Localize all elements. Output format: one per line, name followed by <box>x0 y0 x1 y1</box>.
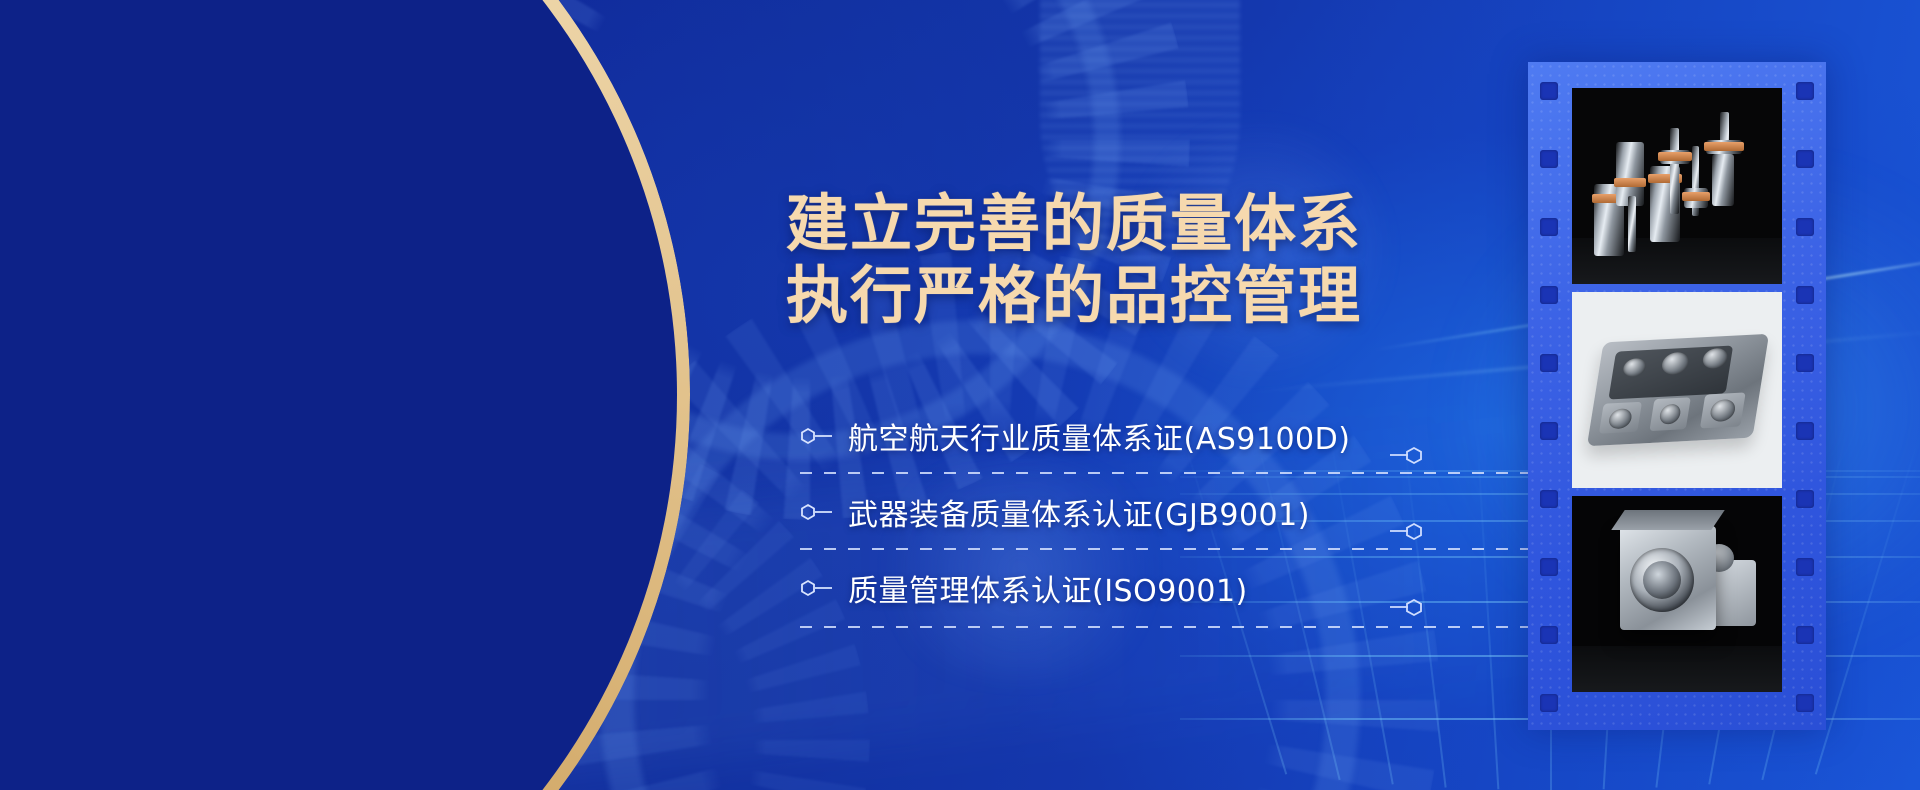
film-perforation <box>1540 422 1558 440</box>
headline-line-1: 建立完善的质量体系 <box>786 187 1362 260</box>
hexagon-end-icon <box>1388 520 1428 542</box>
film-perforation <box>1796 626 1814 644</box>
film-perforation <box>1796 694 1814 712</box>
film-perforation <box>1540 558 1558 576</box>
page-title: 建立完善的质量体系 执行严格的品控管理 <box>786 188 1466 332</box>
hexagon-end-icon <box>1388 444 1428 466</box>
headline-line-2: 执行严格的品控管理 <box>786 260 1466 332</box>
film-perforation <box>1540 218 1558 236</box>
certification-item[interactable]: 航空航天行业质量体系证(AS9100D) <box>800 398 1460 474</box>
film-perforation <box>1796 150 1814 168</box>
photo-collage <box>0 0 690 790</box>
product-filmstrip <box>1528 62 1826 730</box>
photo-bench-measurement <box>336 0 690 388</box>
product-frame-bearing-block[interactable] <box>1572 496 1782 692</box>
grid-line-vertical <box>1476 430 1499 789</box>
certification-label: 武器装备质量体系认证(GJB9001) <box>848 490 1310 534</box>
film-perforation <box>1540 82 1558 100</box>
photo-cnc-operation <box>336 388 690 790</box>
quality-system-banner: 建立完善的质量体系 执行严格的品控管理 航空航天行业质量体系证(AS9100D)… <box>0 0 1920 790</box>
photo-height-gauge-inspection <box>0 0 336 388</box>
film-perforation <box>1796 286 1814 304</box>
film-perforation <box>1796 354 1814 372</box>
hexagon-bullet-icon <box>800 578 834 598</box>
product-frame-turned-pins[interactable] <box>1572 88 1782 284</box>
film-perforation <box>1540 490 1558 508</box>
photo-cmm-measuring <box>0 388 336 790</box>
certification-label: 航空航天行业质量体系证(AS9100D) <box>848 414 1350 458</box>
grid-line-vertical <box>1815 430 1920 775</box>
certification-item[interactable]: 武器装备质量体系认证(GJB9001) <box>800 474 1460 550</box>
hexagon-bullet-icon <box>800 502 834 522</box>
film-perforation <box>1796 490 1814 508</box>
hexagon-bullet-icon <box>800 426 834 446</box>
film-perforation <box>1540 150 1558 168</box>
film-perforation <box>1796 422 1814 440</box>
hexagon-end-icon <box>1388 596 1428 618</box>
certification-label: 质量管理体系认证(ISO9001) <box>848 566 1248 610</box>
film-perforation <box>1796 558 1814 576</box>
certification-end-markers <box>1388 414 1428 734</box>
film-perforation <box>1540 694 1558 712</box>
certification-item[interactable]: 质量管理体系认证(ISO9001) <box>800 550 1460 626</box>
film-perforation <box>1796 82 1814 100</box>
certification-list: 航空航天行业质量体系证(AS9100D)武器装备质量体系认证(GJB9001)质… <box>800 398 1460 626</box>
film-perforation <box>1796 218 1814 236</box>
film-perforation <box>1540 626 1558 644</box>
film-perforation <box>1540 286 1558 304</box>
dashed-separator <box>800 626 1600 628</box>
film-perforation <box>1540 354 1558 372</box>
product-frame-housing[interactable] <box>1572 292 1782 488</box>
